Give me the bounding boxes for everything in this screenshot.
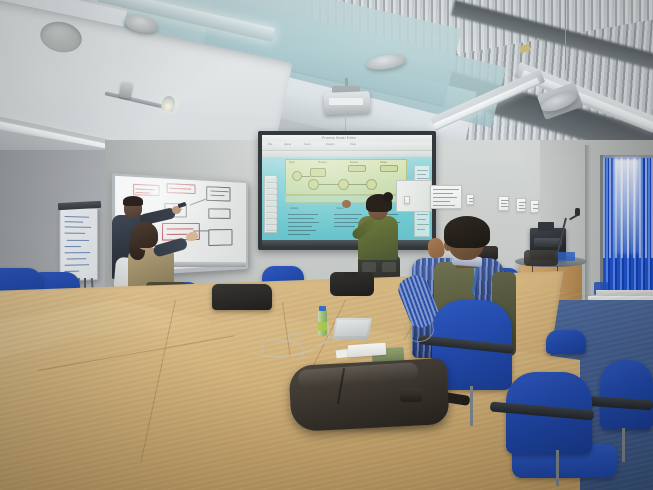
power-cable-loop [288, 332, 302, 342]
flipchart-paper[interactable] [59, 206, 98, 281]
swimlane-label-2: Review [350, 161, 358, 164]
remote-control[interactable] [344, 272, 358, 278]
projector-lens [329, 98, 363, 105]
water-bottle-cap[interactable] [319, 306, 326, 311]
screen-presenter-pocket-left [362, 262, 376, 272]
diagram-node-6[interactable] [380, 165, 398, 172]
water-bottle-label [318, 322, 327, 331]
palette-row-5[interactable] [266, 208, 277, 213]
diagram-node-0[interactable] [292, 171, 302, 181]
ribbon-tab-0[interactable]: File [268, 143, 272, 146]
diagram-node-3[interactable] [338, 179, 349, 190]
diagram-connector-0 [302, 176, 310, 177]
microphone-head-icon [575, 208, 580, 216]
notice-d [404, 196, 410, 204]
stacking-chair-right-4[interactable] [546, 330, 586, 354]
seated-participant-left-hair [131, 222, 158, 248]
seated-participant-right-hair [444, 216, 490, 248]
small-whiteboard [396, 180, 432, 212]
blind-slat-highlights [603, 158, 653, 258]
screen-presenter-pocket-right [382, 262, 396, 272]
projected-app-title: Process Model Editor [322, 136, 356, 140]
meeting-room-photo: Process Model Editor File Home Insert De… [0, 0, 653, 490]
swimlane-label-3: Output [380, 161, 387, 164]
ribbon-tab-3[interactable]: Design [326, 143, 334, 146]
blue-device [555, 252, 575, 261]
notice-a [466, 194, 474, 205]
diagram-node-1[interactable] [310, 168, 326, 177]
projected-app-toolbar [262, 151, 432, 157]
laptop-bag-rear[interactable] [212, 284, 272, 310]
projected-app-titlebar: Process Model Editor [262, 135, 432, 142]
ribbon-tab-4[interactable]: View [350, 143, 356, 146]
palette-row-4[interactable] [266, 202, 277, 207]
projection-screen-bottom-bar [262, 240, 432, 246]
notice-b [498, 196, 509, 211]
notice-large [430, 185, 462, 209]
stacking-chair-right-3[interactable] [600, 360, 653, 430]
messenger-bag-buckle [400, 388, 422, 402]
palette-row-7[interactable] [266, 220, 277, 225]
diagram-column-header-1: Owner [336, 207, 344, 210]
screen-presenter-hand [342, 200, 351, 208]
notice-e [530, 200, 539, 213]
projected-shape-palette[interactable] [264, 175, 277, 233]
screen-presenter-hair-bun [383, 192, 393, 202]
ribbon-tab-2[interactable]: Insert [304, 143, 311, 146]
palette-row-1[interactable] [266, 184, 277, 189]
notice-c [516, 198, 526, 212]
swimlane-label-1: Process [318, 161, 327, 164]
light-suspension-wire [565, 0, 566, 70]
palette-row-2[interactable] [266, 190, 277, 195]
chair-leg-right-3 [622, 428, 625, 462]
diagram-column-header-0: Activity [290, 207, 298, 210]
palette-row-6[interactable] [266, 214, 277, 219]
laptop-screen[interactable] [335, 320, 370, 336]
diagram-connector-2 [349, 184, 366, 185]
chair-leg-right-2 [556, 450, 559, 486]
projected-outline-panel[interactable] [414, 209, 430, 237]
diagram-connector-1 [319, 184, 338, 185]
ribbon-tab-1[interactable]: Home [284, 143, 291, 146]
laptop-bag-right[interactable] [524, 250, 558, 266]
diagram-node-2[interactable] [308, 179, 319, 190]
av-monitor [538, 222, 554, 231]
palette-row-8[interactable] [266, 226, 277, 231]
standing-presenter-hair [123, 196, 143, 206]
palette-row-0[interactable] [266, 178, 277, 183]
palette-row-3[interactable] [266, 196, 277, 201]
diagram-node-5[interactable] [348, 165, 366, 172]
chair-leg-right-1 [470, 386, 473, 426]
swimlane-label-0: Input [289, 161, 294, 164]
diagram-node-4[interactable] [366, 179, 377, 190]
